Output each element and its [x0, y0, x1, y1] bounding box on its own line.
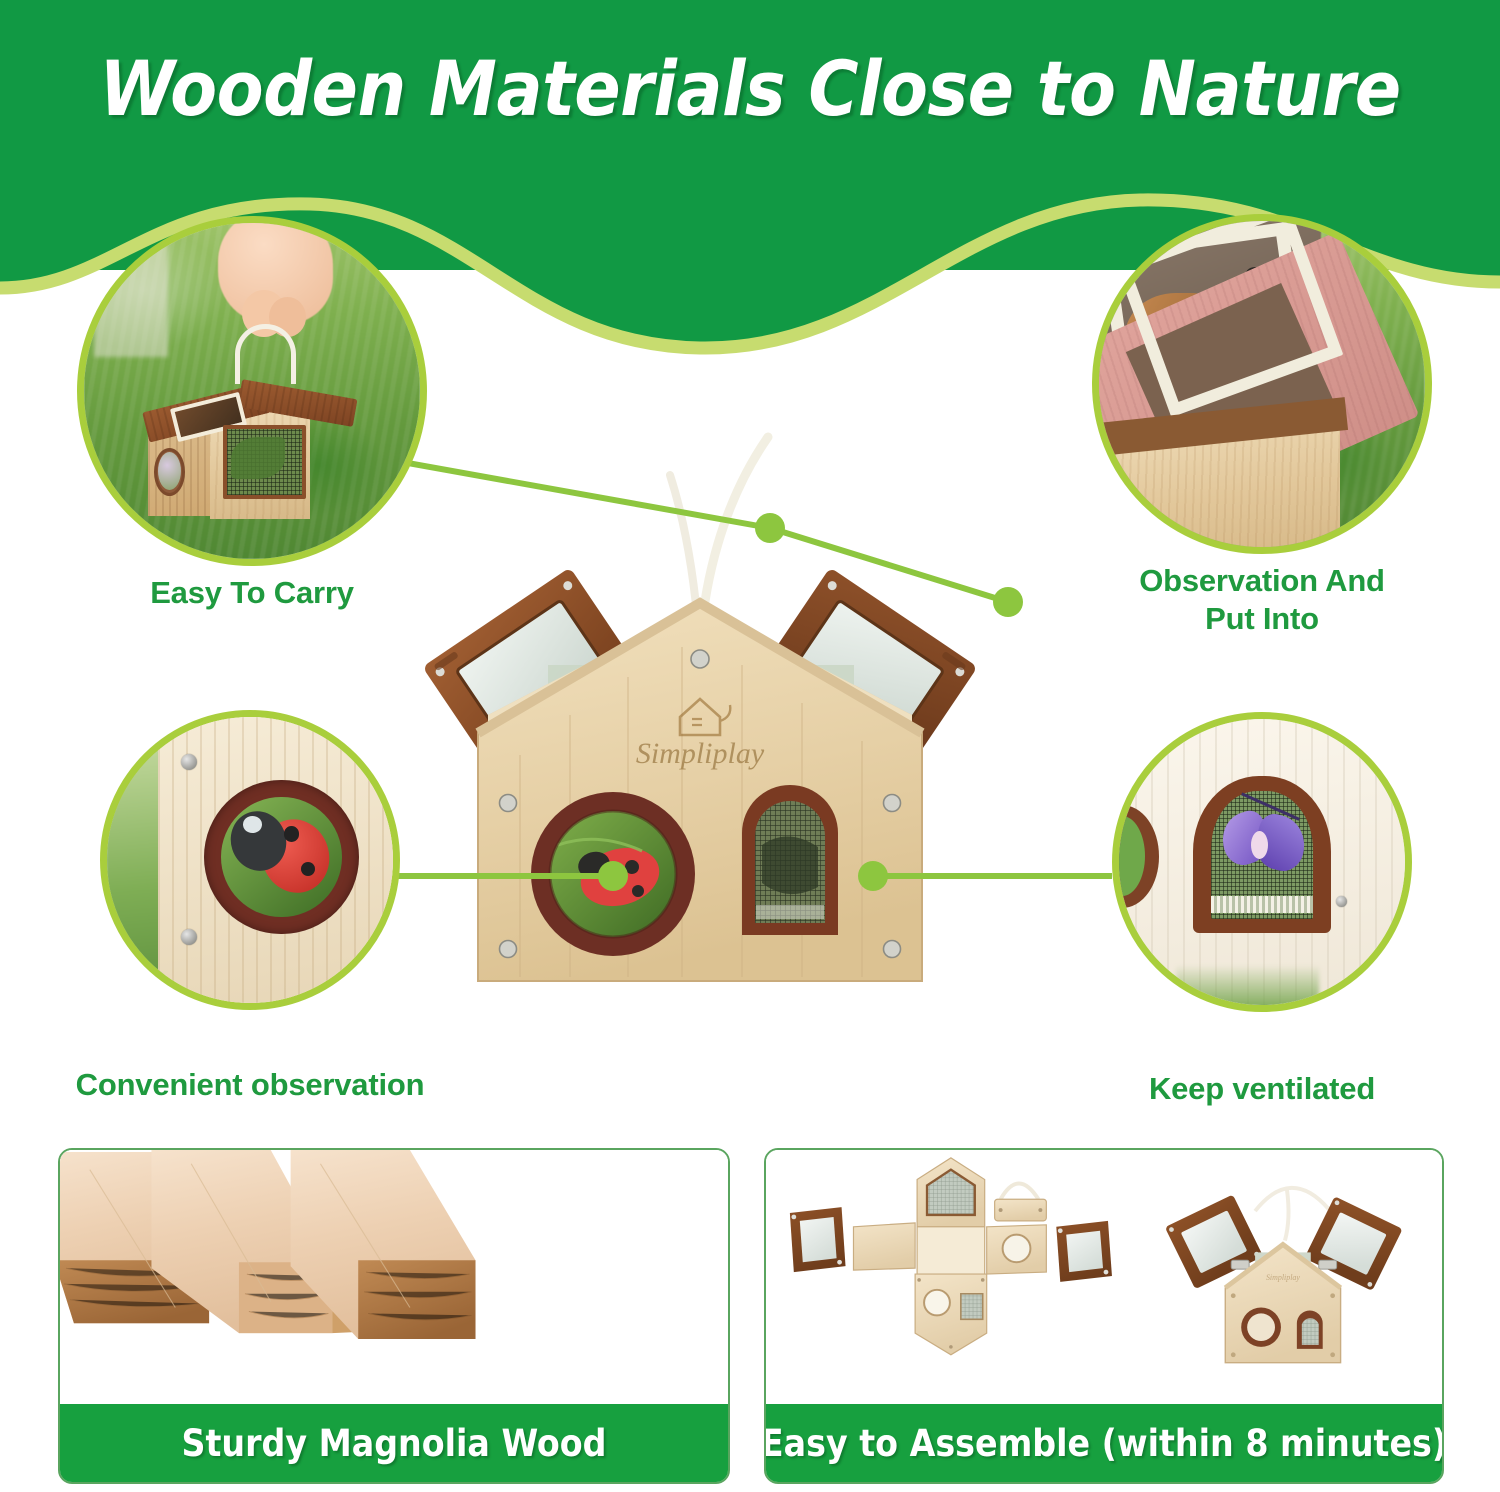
callout-easy-to-carry: Easy To Carry	[77, 216, 427, 566]
observation-put-into-photo	[1092, 214, 1432, 554]
panel-label-bar-magnolia: Sturdy Magnolia Wood	[60, 1404, 728, 1482]
assembly-photo: Simpliplay	[766, 1150, 1442, 1404]
callout-keep-ventilated: Keep ventilated	[1112, 712, 1412, 1012]
caption-easy-to-carry: Easy To Carry	[77, 574, 427, 612]
hero-product-image: Simpliplay	[370, 415, 1030, 1035]
panel-sturdy-magnolia-wood: Sturdy Magnolia Wood	[58, 1148, 730, 1484]
caption-line: Convenient observation	[65, 1066, 435, 1104]
magnolia-wood-photo	[60, 1150, 728, 1404]
svg-text:Simpliplay: Simpliplay	[636, 737, 765, 770]
callout-observation-put-into: Observation And Put Into	[1092, 214, 1432, 554]
panel-label-bar-assemble: Easy to Assemble (within 8 minutes)	[766, 1404, 1442, 1482]
panel-label-text: Easy to Assemble (within 8 minutes)	[764, 1422, 1444, 1465]
caption-convenient-observation: Convenient observation	[65, 1066, 435, 1104]
keep-ventilated-photo	[1112, 712, 1412, 1012]
svg-text:Simpliplay: Simpliplay	[1266, 1273, 1300, 1282]
caption-observation-put-into: Observation And Put Into	[1092, 562, 1432, 638]
panel-label-text: Sturdy Magnolia Wood	[182, 1422, 607, 1465]
panel-easy-to-assemble: Simpliplay Easy to Assemble (within 8 mi…	[764, 1148, 1444, 1484]
caption-line: Keep ventilated	[1112, 1070, 1412, 1108]
caption-line: Put Into	[1092, 600, 1432, 638]
convenient-observation-photo	[100, 710, 400, 1010]
caption-line: Easy To Carry	[77, 574, 427, 612]
page-title: Wooden Materials Close to Nature	[0, 44, 1500, 133]
caption-keep-ventilated: Keep ventilated	[1112, 1070, 1412, 1108]
callout-convenient-observation: Convenient observation	[100, 710, 400, 1010]
easy-to-carry-photo	[77, 216, 427, 566]
caption-line: Observation And	[1092, 562, 1432, 600]
